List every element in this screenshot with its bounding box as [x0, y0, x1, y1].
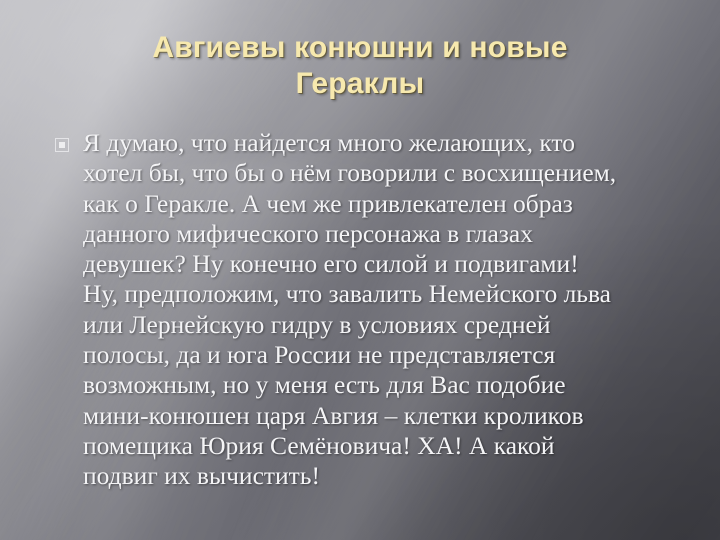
slide-body: Я думаю, что найдется много желающих, кт… [55, 128, 695, 492]
slide-title-line-2: Гераклы [60, 66, 660, 102]
slide-content: Авгиевы конюшни и новые Гераклы Я думаю,… [0, 0, 720, 540]
slide-title-line-1: Авгиевы конюшни и новые [60, 30, 660, 66]
slide-title: Авгиевы конюшни и новые Гераклы [60, 30, 660, 102]
presentation-slide: Авгиевы конюшни и новые Гераклы Я думаю,… [0, 0, 720, 540]
body-paragraph: Я думаю, что найдется много желающих, кт… [83, 128, 695, 492]
square-bullet-icon [55, 138, 69, 152]
